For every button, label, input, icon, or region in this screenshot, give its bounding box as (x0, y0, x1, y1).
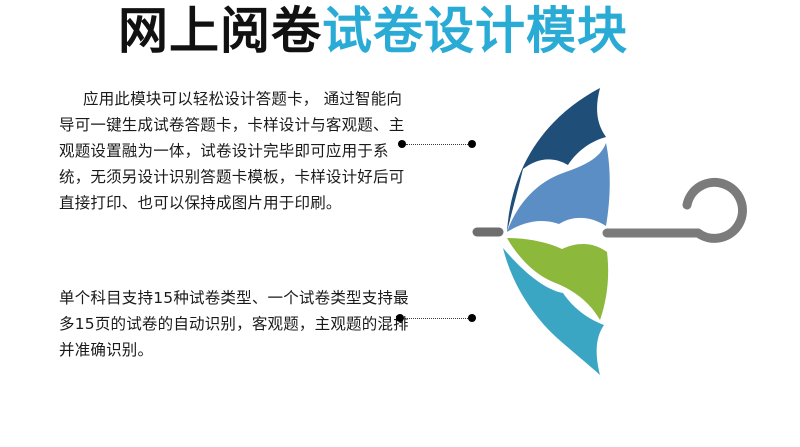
umbrella-handle-icon (607, 182, 742, 238)
page-title-primary: 网上阅卷 (118, 2, 322, 60)
umbrella-canopy (503, 88, 610, 375)
umbrella-icon (455, 85, 765, 395)
page-title-accent: 试卷设计模块 (322, 2, 628, 60)
connector-dot-start (396, 314, 404, 322)
page-title: 网上阅卷试卷设计模块 (118, 2, 628, 60)
connector-dot-start (398, 140, 406, 148)
description-paragraph-1: 应用此模块可以轻松设计答题卡， 通过智能向导可一键生成试卷答题卡，卡样设计与客观… (59, 86, 411, 216)
description-paragraph-2: 单个科目支持15种试卷类型、一个试卷类型支持最多15页的试卷的自动识别，客观题，… (59, 285, 411, 363)
slide-canvas: 网上阅卷试卷设计模块 应用此模块可以轻松设计答题卡， 通过智能向导可一键生成试卷… (0, 0, 800, 447)
